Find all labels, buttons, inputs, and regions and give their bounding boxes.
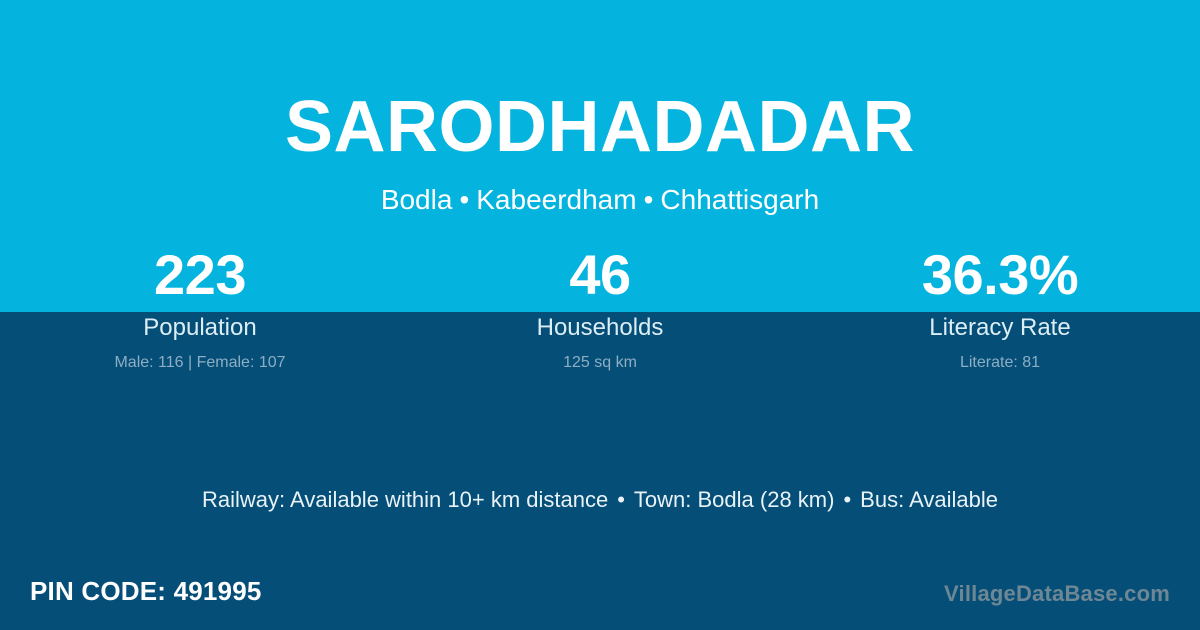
stat-value: 46 [400,240,800,312]
village-info-card: SARODHADADAR Bodla•Kabeerdham•Chhattisga… [0,0,1200,630]
amenity-bus: Bus: Available [860,487,998,512]
stat-detail: Literate: 81 [800,352,1200,374]
stat-label: Literacy Rate [800,313,1200,343]
breadcrumb-block: Bodla [381,184,453,215]
site-watermark: VillageDataBase.com [944,580,1170,608]
stat-detail: Male: 116 | Female: 107 [0,352,400,374]
stats-row: 223 Population Male: 116 | Female: 107 4… [0,240,1200,380]
stat-value: 223 [0,240,400,312]
stat-label: Population [0,313,400,343]
amenity-separator-1: • [608,487,634,512]
amenity-separator-2: • [834,487,860,512]
breadcrumb-separator-1: • [452,184,476,215]
pin-code: PIN CODE: 491995 [30,575,262,607]
stat-literacy-rate: 36.3% Literacy Rate Literate: 81 [800,240,1200,380]
stat-detail: 125 sq km [400,352,800,374]
breadcrumb-state: Chhattisgarh [660,184,819,215]
amenity-railway: Railway: Available within 10+ km distanc… [202,487,608,512]
breadcrumb-separator-2: • [637,184,661,215]
stat-population: 223 Population Male: 116 | Female: 107 [0,240,400,380]
breadcrumb: Bodla•Kabeerdham•Chhattisgarh [0,182,1200,218]
stat-households: 46 Households 125 sq km [400,240,800,380]
amenities-line: Railway: Available within 10+ km distanc… [0,485,1200,515]
page-title: SARODHADADAR [0,84,1200,170]
breadcrumb-district: Kabeerdham [476,184,636,215]
stat-label: Households [400,313,800,343]
amenity-town: Town: Bodla (28 km) [634,487,835,512]
stat-value: 36.3% [800,240,1200,312]
